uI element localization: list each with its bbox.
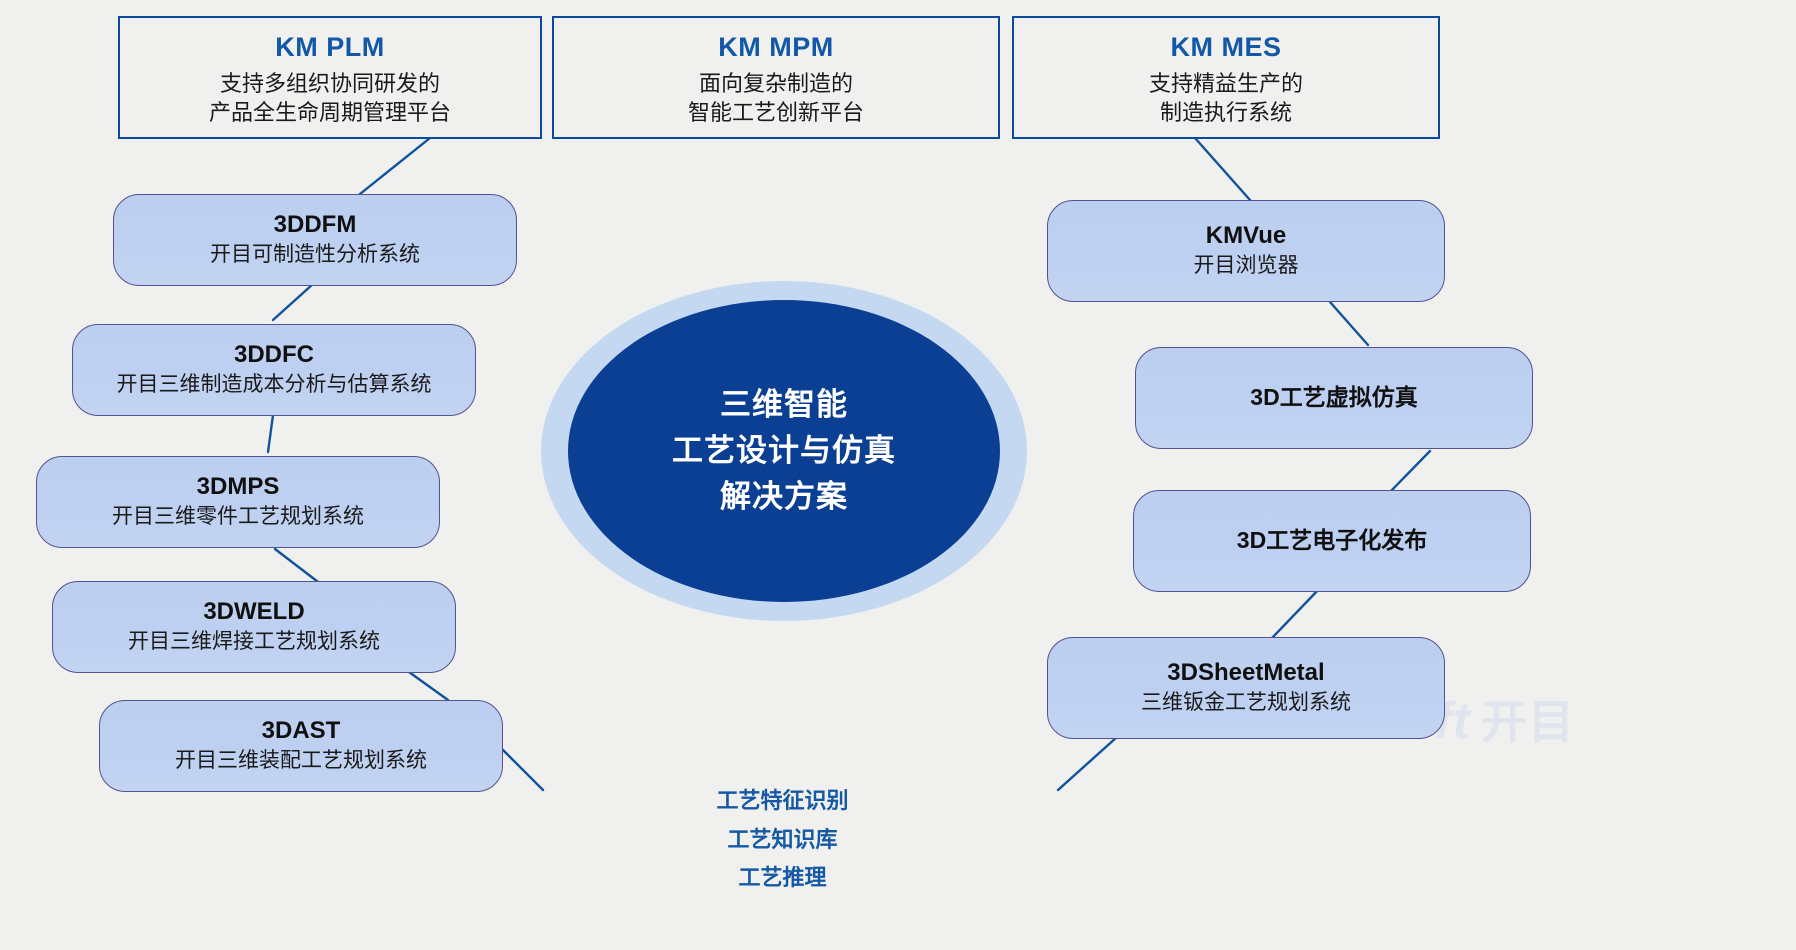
product-code: 3DDFC xyxy=(234,341,314,370)
product-pill-3d-electronic-publish[interactable]: 3D工艺电子化发布 xyxy=(1133,490,1531,592)
center-title-line3: 解决方案 xyxy=(720,474,848,520)
product-code: 3DWELD xyxy=(203,598,304,627)
platform-title: KM MES xyxy=(1171,32,1282,63)
capability-item[interactable]: 工艺知识库 xyxy=(727,821,837,860)
product-pill-3dmps[interactable]: 3DMPS 开目三维零件工艺规划系统 xyxy=(36,456,440,548)
product-code: 3DSheetMetal xyxy=(1167,659,1324,688)
product-pill-3dast[interactable]: 3DAST 开目三维装配工艺规划系统 xyxy=(99,700,503,792)
product-name: 三维钣金工艺规划系统 xyxy=(1141,690,1351,716)
edge-sheetmetal-tail xyxy=(1058,737,1117,790)
edge-3dast-tail xyxy=(502,749,543,790)
platform-subtitle-line2: 制造执行系统 xyxy=(1160,98,1292,127)
product-name: 开目可制造性分析系统 xyxy=(210,242,420,268)
product-name: 开目三维零件工艺规划系统 xyxy=(112,504,364,530)
capability-item[interactable]: 工艺特征识别 xyxy=(716,782,848,821)
edge-kmvue-sim xyxy=(1330,302,1368,345)
platform-title: KM PLM xyxy=(275,32,384,63)
platform-subtitle-line1: 支持多组织协同研发的 xyxy=(220,69,440,98)
product-code: 3DMPS xyxy=(197,473,280,502)
product-name: 开目浏览器 xyxy=(1194,253,1299,279)
edge-3ddfm-3ddfc xyxy=(273,284,313,320)
center-ellipse: 三维智能 工艺设计与仿真 解决方案 xyxy=(568,300,1000,602)
product-pill-3dweld[interactable]: 3DWELD 开目三维焊接工艺规划系统 xyxy=(52,581,456,673)
product-code: 3D工艺虚拟仿真 xyxy=(1250,384,1417,412)
diagram-canvas: KMSoft开目 KM xyxy=(0,0,1796,950)
platform-subtitle-line1: 面向复杂制造的 xyxy=(699,69,853,98)
platform-subtitle-line2: 产品全生命周期管理平台 xyxy=(209,98,451,127)
product-name: 开目三维制造成本分析与估算系统 xyxy=(117,372,432,398)
edge-plm-3ddfm xyxy=(355,138,430,198)
product-pill-3d-virtual-simulation[interactable]: 3D工艺虚拟仿真 xyxy=(1135,347,1533,449)
platform-subtitle-line2: 智能工艺创新平台 xyxy=(688,98,864,127)
product-code: 3DDFM xyxy=(274,211,357,240)
product-code: 3D工艺电子化发布 xyxy=(1237,527,1427,555)
watermark-cn: 开目 xyxy=(1481,696,1575,748)
platform-title: KM MPM xyxy=(718,32,833,63)
product-pill-kmvue[interactable]: KMVue 开目浏览器 xyxy=(1047,200,1445,302)
center-title-line2: 工艺设计与仿真 xyxy=(672,428,896,474)
platform-box-km-mes[interactable]: KM MES 支持精益生产的 制造执行系统 xyxy=(1012,16,1440,139)
capability-list: 工艺特征识别 工艺知识库 工艺推理 xyxy=(620,782,945,898)
product-name: 开目三维焊接工艺规划系统 xyxy=(128,629,380,655)
edge-publish-sheetmetal xyxy=(1272,588,1320,638)
platform-subtitle-line1: 支持精益生产的 xyxy=(1149,69,1303,98)
platform-box-km-mpm[interactable]: KM MPM 面向复杂制造的 智能工艺创新平台 xyxy=(552,16,1000,139)
edge-sim-publish xyxy=(1390,451,1430,492)
edge-3ddfc-3dmps xyxy=(268,415,273,452)
product-pill-3dsheetmetal[interactable]: 3DSheetMetal 三维钣金工艺规划系统 xyxy=(1047,637,1445,739)
product-pill-3ddfc[interactable]: 3DDFC 开目三维制造成本分析与估算系统 xyxy=(72,324,476,416)
center-title-line1: 三维智能 xyxy=(720,382,848,428)
product-name: 开目三维装配工艺规划系统 xyxy=(175,748,427,774)
edge-3dmps-3dweld xyxy=(275,549,322,585)
edge-mes-kmvue xyxy=(1195,138,1250,200)
product-code: 3DAST xyxy=(262,717,341,746)
product-code: KMVue xyxy=(1206,222,1286,251)
product-pill-3ddfm[interactable]: 3DDFM 开目可制造性分析系统 xyxy=(113,194,517,286)
capability-item[interactable]: 工艺推理 xyxy=(738,859,826,898)
platform-box-km-plm[interactable]: KM PLM 支持多组织协同研发的 产品全生命周期管理平台 xyxy=(118,16,542,139)
